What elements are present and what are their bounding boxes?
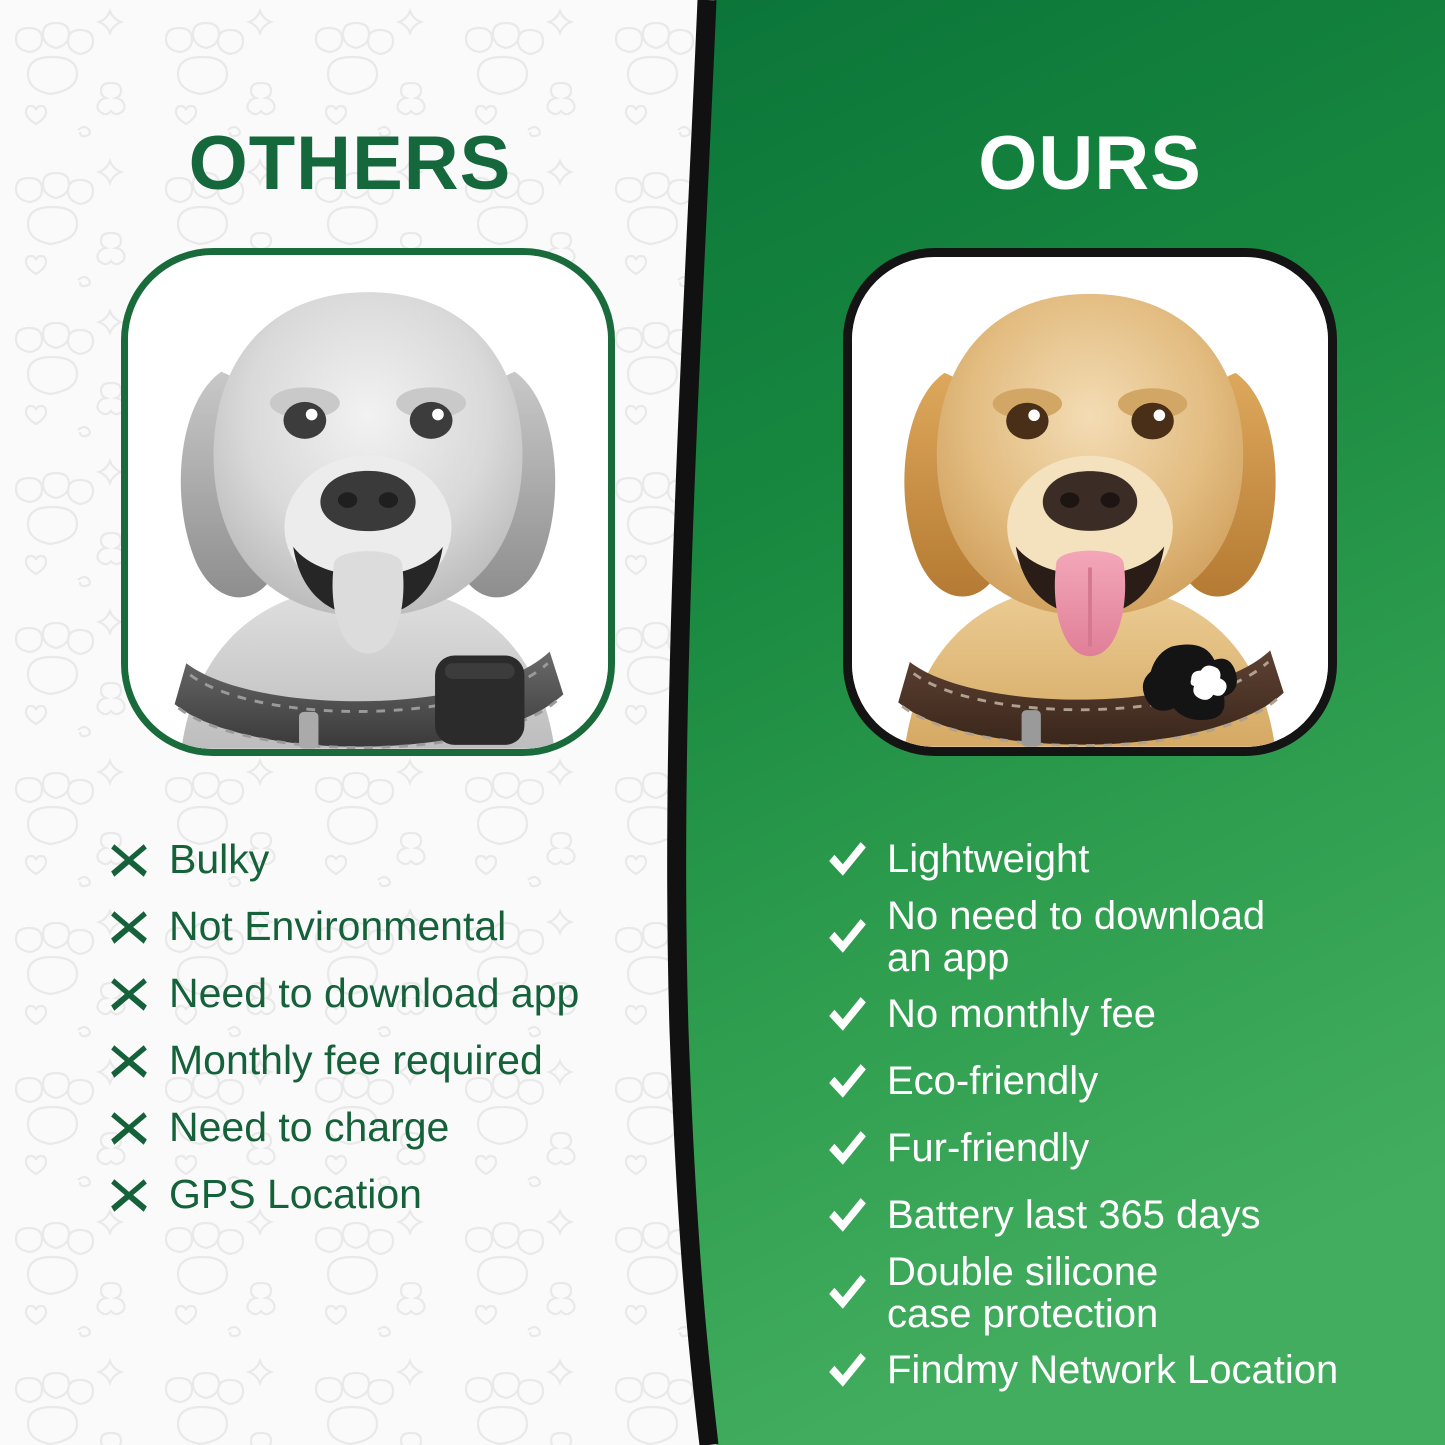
ours-product-image-card: [843, 248, 1337, 756]
feature-label: Need to charge: [169, 1106, 449, 1149]
others-feature-list: Bulky Not Environmental Need to download…: [108, 826, 688, 1228]
feature-label: Lightweight: [887, 838, 1089, 880]
others-title: OTHERS: [0, 126, 700, 202]
list-item: GPS Location: [108, 1161, 688, 1228]
feature-label: Need to download app: [169, 972, 579, 1015]
list-item: Bulky: [108, 826, 688, 893]
list-item: No need to download an app: [826, 893, 1436, 981]
feature-label: Not Environmental: [169, 905, 506, 948]
cross-icon: [108, 973, 150, 1015]
check-icon: [826, 1195, 868, 1237]
cross-icon: [108, 1174, 150, 1216]
list-item: Need to download app: [108, 960, 688, 1027]
list-item: Eco-friendly: [826, 1048, 1436, 1115]
list-item: Monthly fee required: [108, 1027, 688, 1094]
list-item: No monthly fee: [826, 981, 1436, 1048]
list-item: Fur-friendly: [826, 1115, 1436, 1182]
grayscale-dog-with-bulky-tracker-image: [128, 255, 608, 749]
others-product-image-card: [121, 248, 615, 756]
list-item: Not Environmental: [108, 893, 688, 960]
check-icon: [826, 1061, 868, 1103]
cross-icon: [108, 839, 150, 881]
cross-icon: [108, 1040, 150, 1082]
feature-label: No need to download an app: [887, 895, 1265, 980]
color-dog-with-bone-tag-image: [852, 257, 1328, 747]
feature-label: Eco-friendly: [887, 1060, 1098, 1102]
list-item: Lightweight: [826, 826, 1436, 893]
feature-label: Monthly fee required: [169, 1039, 543, 1082]
list-item: Double silicone case protection: [826, 1249, 1436, 1337]
cross-icon: [108, 1107, 150, 1149]
feature-label: Bulky: [169, 838, 269, 881]
check-icon: [826, 1350, 868, 1392]
feature-label: GPS Location: [169, 1173, 422, 1216]
check-icon: [826, 839, 868, 881]
list-item: Need to charge: [108, 1094, 688, 1161]
list-item: Findmy Network Location: [826, 1337, 1436, 1404]
feature-label: Battery last 365 days: [887, 1194, 1261, 1236]
feature-label: Fur-friendly: [887, 1127, 1089, 1169]
check-icon: [826, 916, 868, 958]
cross-icon: [108, 906, 150, 948]
check-icon: [826, 1128, 868, 1170]
feature-label: No monthly fee: [887, 993, 1156, 1035]
ours-title: OURS: [760, 126, 1420, 202]
check-icon: [826, 1272, 868, 1314]
ours-feature-list: Lightweight No need to download an app N…: [826, 826, 1436, 1404]
feature-label: Double silicone case protection: [887, 1251, 1158, 1336]
list-item: Battery last 365 days: [826, 1182, 1436, 1249]
check-icon: [826, 994, 868, 1036]
infographic-root: OTHERS OURS: [0, 0, 1445, 1445]
feature-label: Findmy Network Location: [887, 1349, 1338, 1391]
